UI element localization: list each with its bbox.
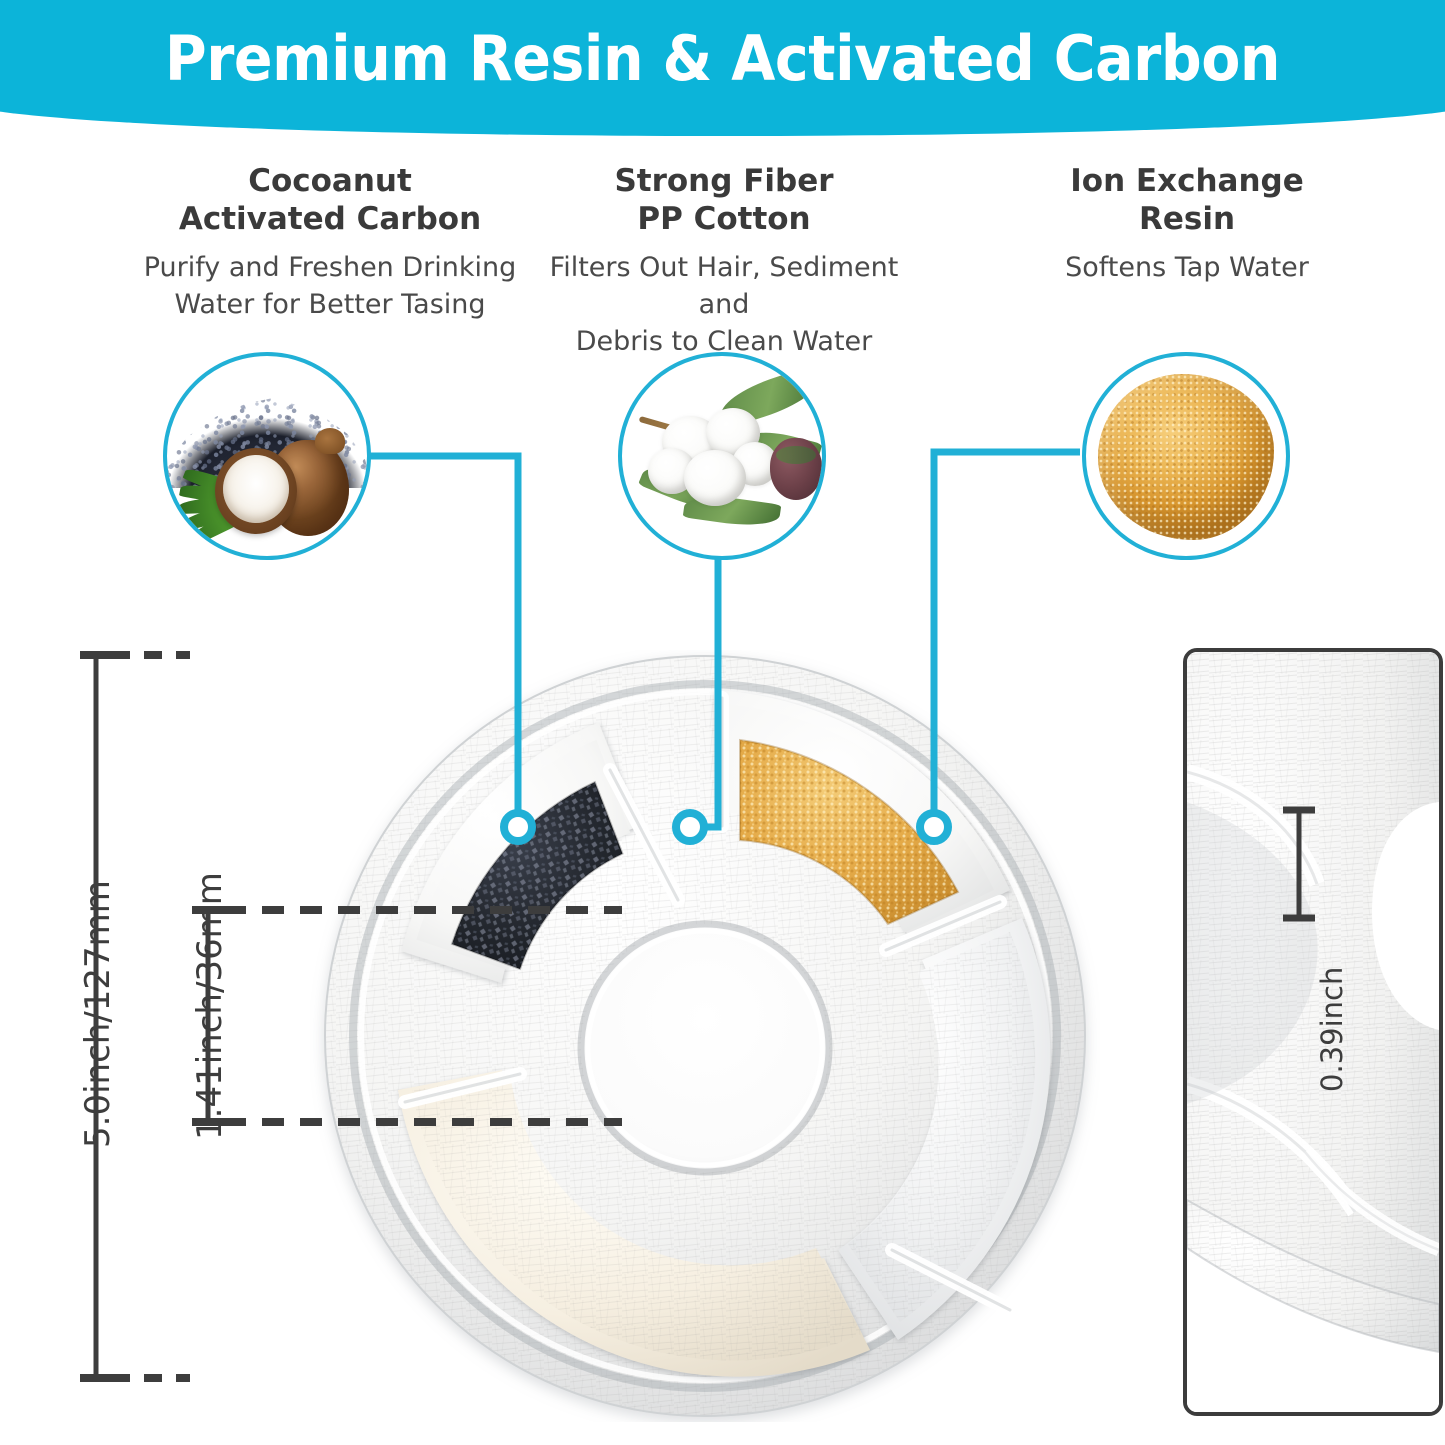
diameter-dimension-label: 5.0inch/127mm	[78, 880, 118, 1148]
filter-disc-product-photo	[310, 650, 1100, 1422]
resin-bead-pile	[1098, 374, 1274, 540]
resin-illustration	[1086, 356, 1286, 556]
cotton-boll	[684, 450, 746, 506]
thickness-dimension-label: 0.39inch	[1315, 967, 1349, 1092]
feature-description: Softens Tap Water	[990, 249, 1384, 286]
feature-description: Filters Out Hair, Sediment and Debris to…	[530, 249, 918, 360]
filter-center-hole	[581, 924, 829, 1172]
cotton-boll-photo-icon	[618, 352, 826, 560]
feature-column-coconut-activated-carbon: Cocoanut Activated Carbon Purify and Fre…	[92, 162, 568, 323]
cotton-bud	[770, 438, 822, 500]
coconut-carbon-illustration	[167, 356, 367, 556]
feature-column-ion-exchange-resin: Ion Exchange Resin Softens Tap Water	[990, 162, 1384, 286]
thickness-measure-bracket	[1279, 804, 1319, 924]
thickness-closeup-panel: 0.39inch	[1183, 648, 1443, 1416]
feature-title: Ion Exchange Resin	[990, 162, 1384, 238]
header-banner: Premium Resin & Activated Carbon	[0, 0, 1445, 136]
cotton-illustration	[622, 356, 822, 556]
filter-edge-closeup-photo	[1187, 652, 1439, 1412]
feature-title: Strong Fiber PP Cotton	[530, 162, 918, 238]
coconut-half	[215, 448, 297, 534]
feature-title: Cocoanut Activated Carbon	[92, 162, 568, 238]
banner-title: Premium Resin & Activated Carbon	[58, 22, 1387, 95]
feature-description: Purify and Freshen Drinking Water for Be…	[92, 249, 568, 323]
band-dimension-label: 1.41inch/36mm	[190, 872, 230, 1140]
feature-column-strong-fiber-pp-cotton: Strong Fiber PP Cotton Filters Out Hair,…	[530, 162, 918, 360]
resin-beads-photo-icon	[1082, 352, 1290, 560]
coconut-carbon-photo-icon	[163, 352, 371, 560]
